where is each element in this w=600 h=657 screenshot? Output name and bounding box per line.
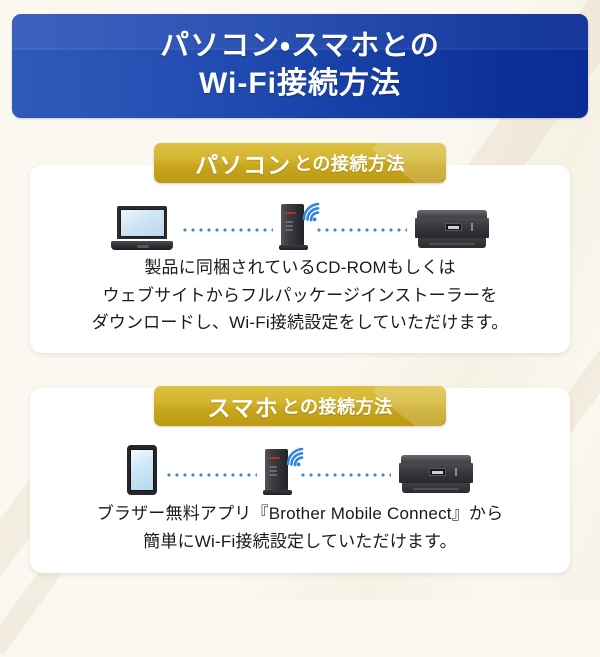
smartphone-description-line-2: 簡単にWi-Fi接続設定していただけます。 [0,528,600,556]
printer-icon [415,210,489,250]
printer-icon [399,455,473,495]
smartphone-description-line-1: ブラザー無料アプリ『Brother Mobile Connect』から [0,500,600,528]
smartphone-badge-emphasis: スマホ [207,389,278,423]
pc-section-badge: パソコン との接続方法 [154,143,446,183]
smartphone-badge-rest: との接続方法 [282,393,393,419]
pc-description-line-2: ウェブサイトからフルパッケージインストーラーを [0,282,600,310]
dotted-connector [181,228,273,232]
router-icon [265,449,291,495]
pc-description: 製品に同梱されているCD-ROMもしくは ウェブサイトからフルパッケージインスト… [0,254,600,337]
pc-description-line-1: 製品に同梱されているCD-ROMもしくは [0,254,600,282]
pc-badge-rest: との接続方法 [294,150,405,176]
dotted-connector [299,473,391,477]
smartphone-section-badge: スマホ との接続方法 [154,386,446,426]
smartphone-connection-diagram [0,437,600,495]
header-banner: パソコン・スマホとの Wi-Fi接続方法 [12,14,588,118]
smartphone-description: ブラザー無料アプリ『Brother Mobile Connect』から 簡単にW… [0,500,600,555]
smartphone-icon [127,445,157,495]
router-icon [281,204,307,250]
laptop-icon [111,206,173,250]
wifi-signal-icon [301,198,327,222]
page-root: パソコン・スマホとの Wi-Fi接続方法 パソコン との接続方法 [0,0,600,600]
banner-title-line-2: Wi-Fi接続方法 [199,66,401,103]
pc-connection-diagram [0,192,600,250]
pc-badge-emphasis: パソコン [195,146,291,180]
pc-description-line-3: ダウンロードし、Wi-Fi接続設定をしていただけます。 [0,309,600,337]
banner-title-line-1: パソコン・スマホとの [160,29,440,64]
dotted-connector [315,228,407,232]
wifi-signal-icon [285,443,311,467]
dotted-connector [165,473,257,477]
